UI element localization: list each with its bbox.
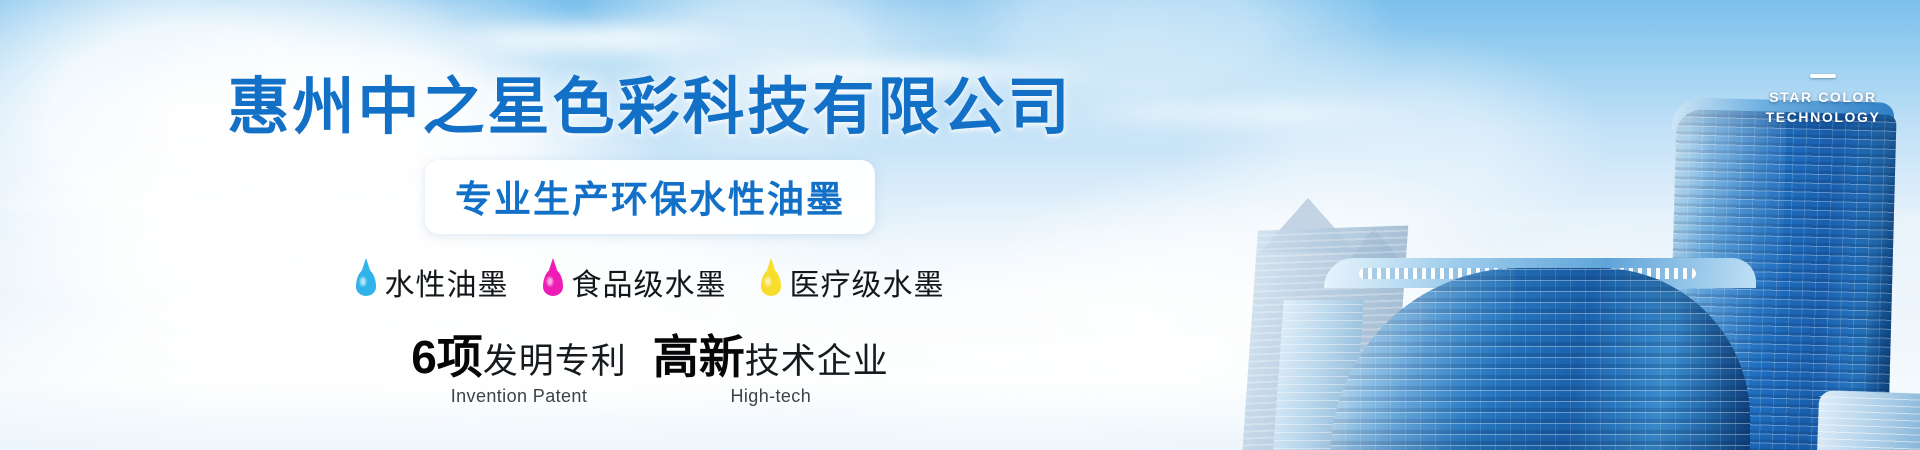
credential-chinese: 6项发明专利	[411, 334, 627, 381]
glass-logo-line2: TECHNOLOGY	[1748, 107, 1898, 127]
front-glass-tower	[1330, 268, 1750, 450]
water-drop-icon	[356, 269, 376, 296]
subtitle-pill: 专业生产环保水性油墨	[425, 160, 875, 234]
logo-bar-icon	[1810, 74, 1836, 78]
feature-item: 食品级水墨	[543, 260, 727, 304]
promotional-banner: ★ Star Color STAR COLOR TECHNOLOGY 惠州中之星…	[0, 0, 1920, 450]
feature-item: 水性油墨	[356, 260, 509, 304]
feature-label: 食品级水墨	[572, 260, 727, 304]
water-drop-icon	[761, 269, 781, 296]
credential-english: Invention Patent	[411, 386, 627, 407]
water-drop-icon	[543, 269, 563, 296]
credential-chinese: 高新技术企业	[653, 334, 889, 381]
credentials-list: 6项发明专利 Invention Patent 高新技术企业 High-tech	[411, 334, 889, 407]
glass-logo-line1: STAR COLOR	[1748, 87, 1898, 107]
banner-content: 惠州中之星色彩科技有限公司 专业生产环保水性油墨 水性油墨 食品级水墨 医疗级水…	[0, 0, 1300, 450]
credential-english: High-tech	[653, 386, 889, 407]
credential-strong: 高新	[653, 331, 745, 383]
company-title: 惠州中之星色彩科技有限公司	[227, 56, 1072, 146]
glass-logo: STAR COLOR TECHNOLOGY	[1748, 74, 1898, 128]
credential-strong: 6项	[411, 331, 483, 383]
subtitle-text: 专业生产环保水性油墨	[455, 179, 845, 220]
feature-item: 医疗级水墨	[761, 260, 945, 304]
feature-label: 医疗级水墨	[790, 260, 945, 304]
feature-label: 水性油墨	[385, 260, 509, 304]
skyscraper-illustration	[1220, 0, 1920, 450]
credential-item: 高新技术企业 High-tech	[653, 334, 889, 407]
feature-list: 水性油墨 食品级水墨 医疗级水墨	[356, 260, 945, 304]
credential-rest: 发明专利	[483, 342, 627, 381]
credential-item: 6项发明专利 Invention Patent	[411, 334, 627, 407]
credential-rest: 技术企业	[745, 342, 889, 381]
low-building	[1817, 390, 1920, 450]
